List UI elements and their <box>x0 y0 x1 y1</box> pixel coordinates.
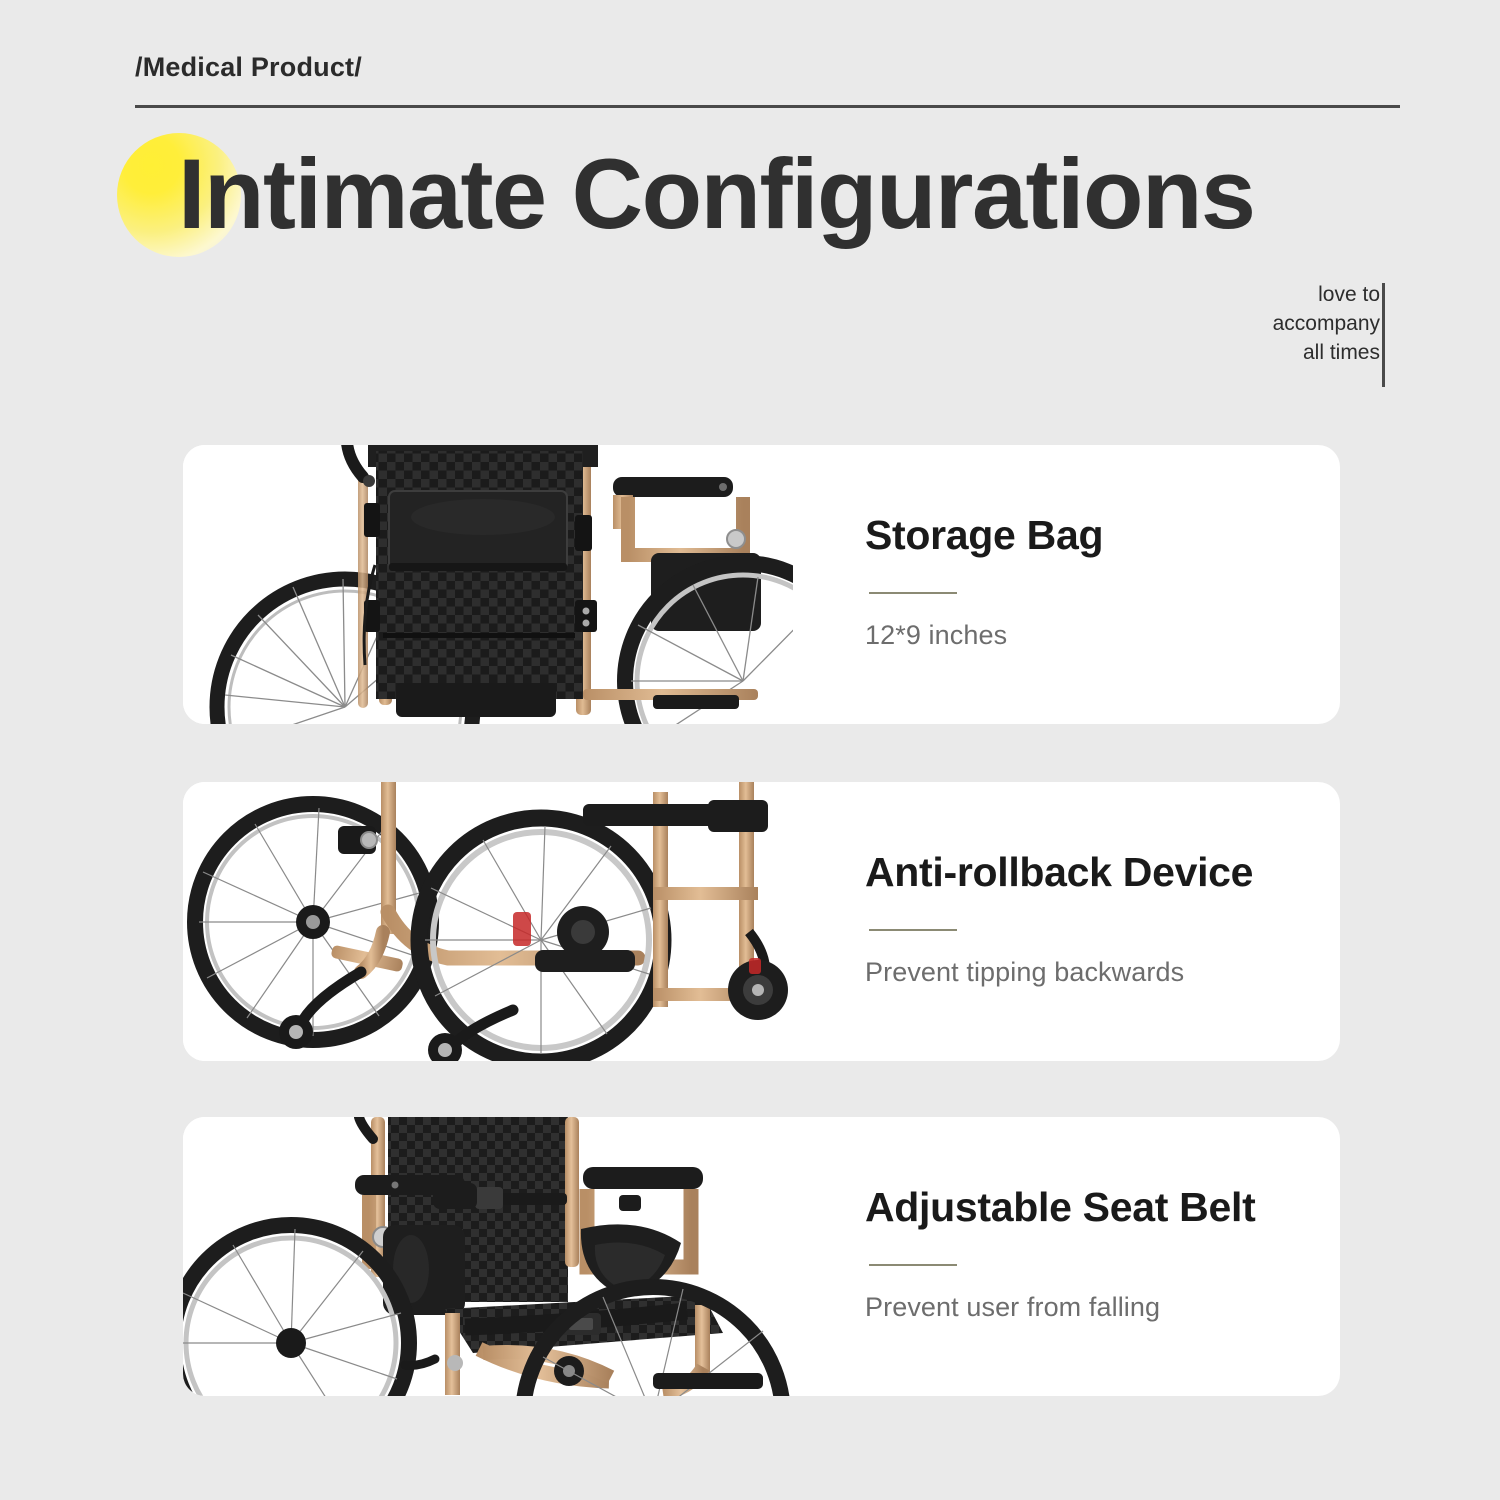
feature-card-subtitle: Prevent tipping backwards <box>865 957 1340 988</box>
feature-card-divider <box>869 929 957 931</box>
feature-card-title: Adjustable Seat Belt <box>865 1185 1340 1230</box>
feature-card-title: Anti-rollback Device <box>865 850 1340 895</box>
tagline-block: love to accompany all times <box>1273 281 1380 368</box>
poster-root: /Medical Product/ Intimate Configuration… <box>0 0 1500 1500</box>
tagline-vertical-divider <box>1382 283 1385 387</box>
feature-card-body: Adjustable Seat Belt Prevent user from f… <box>793 1117 1340 1396</box>
feature-card-divider <box>869 592 957 594</box>
wheelchair-anti-rollback-casters-photo <box>183 782 793 1061</box>
wheelchair-seat-belt-photo <box>183 1117 793 1396</box>
header-divider <box>135 105 1400 108</box>
tagline-line-2: accompany <box>1273 310 1380 339</box>
feature-card[interactable]: Adjustable Seat Belt Prevent user from f… <box>183 1117 1340 1396</box>
feature-card-title: Storage Bag <box>865 513 1340 558</box>
feature-card[interactable]: Anti-rollback Device Prevent tipping bac… <box>183 782 1340 1061</box>
breadcrumb-kicker: /Medical Product/ <box>135 52 362 83</box>
wheelchair-storage-bag-photo <box>183 445 793 724</box>
page-title: Intimate Configurations <box>178 140 1255 249</box>
tagline-line-3: all times <box>1273 339 1380 368</box>
feature-card-subtitle: 12*9 inches <box>865 620 1340 651</box>
feature-card-divider <box>869 1264 957 1266</box>
tagline-line-1: love to <box>1273 281 1380 310</box>
feature-card-body: Storage Bag 12*9 inches <box>793 445 1340 724</box>
feature-card-body: Anti-rollback Device Prevent tipping bac… <box>793 782 1340 1061</box>
feature-card[interactable]: Storage Bag 12*9 inches <box>183 445 1340 724</box>
feature-card-subtitle: Prevent user from falling <box>865 1292 1340 1323</box>
